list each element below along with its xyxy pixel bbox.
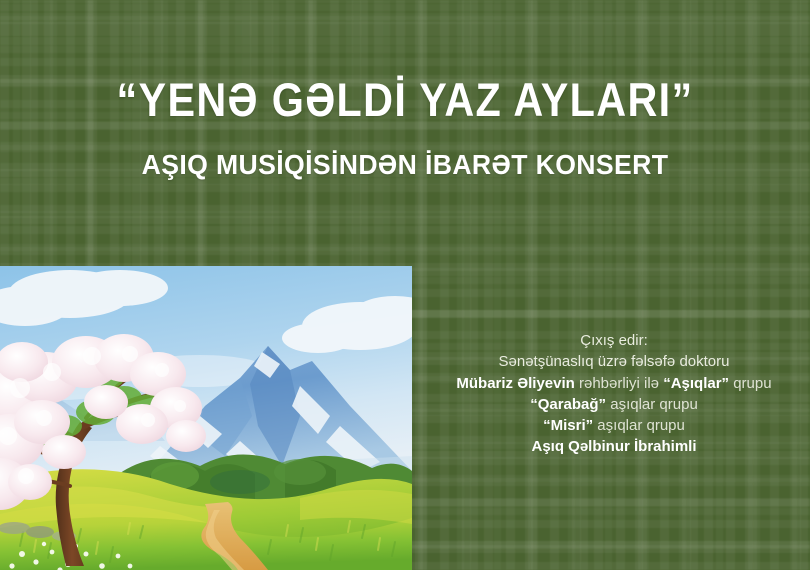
group3-suffix: aşıqlar qrupu bbox=[593, 417, 685, 434]
performers-leader-line: Mübariz Əliyevin rəhbərliyi ilə “Aşıqlar… bbox=[418, 373, 810, 394]
performers-group2-line: “Qarabağ” aşıqlar qrupu bbox=[418, 394, 810, 415]
poster-title: “YENƏ GƏLDİ YAZ AYLARI” bbox=[49, 76, 762, 124]
concert-poster: “YENƏ GƏLDİ YAZ AYLARI” AŞIQ MUSİQİSİNDƏ… bbox=[0, 0, 810, 570]
group2-suffix: aşıqlar qrupu bbox=[606, 396, 698, 413]
leader-name: Mübariz Əliyevin bbox=[456, 375, 574, 392]
performers-credential: Sənətşünaslıq üzrə fəlsəfə doktoru bbox=[418, 351, 810, 372]
performers-soloist: Aşıq Qəlbinur İbrahimli bbox=[418, 436, 810, 457]
painting-canvas bbox=[0, 266, 412, 570]
leader-group-suffix: qrupu bbox=[729, 375, 772, 392]
group3-name: “Misri” bbox=[543, 417, 593, 434]
leader-group-name: “Aşıqlar” bbox=[663, 375, 729, 392]
group2-name: “Qarabağ” bbox=[530, 396, 606, 413]
performers-block: Çıxış edir: Sənətşünaslıq üzrə fəlsəfə d… bbox=[418, 330, 810, 458]
headline-block: “YENƏ GƏLDİ YAZ AYLARI” AŞIQ MUSİQİSİNDƏ… bbox=[0, 76, 810, 181]
performers-intro: Çıxış edir: bbox=[418, 330, 810, 351]
leader-mid: rəhbərliyi ilə bbox=[575, 375, 663, 392]
poster-subtitle: AŞIQ MUSİQİSİNDƏN İBARƏT KONSERT bbox=[20, 149, 790, 181]
performers-group3-line: “Misri” aşıqlar qrupu bbox=[418, 415, 810, 436]
spring-landscape-painting bbox=[0, 266, 412, 570]
